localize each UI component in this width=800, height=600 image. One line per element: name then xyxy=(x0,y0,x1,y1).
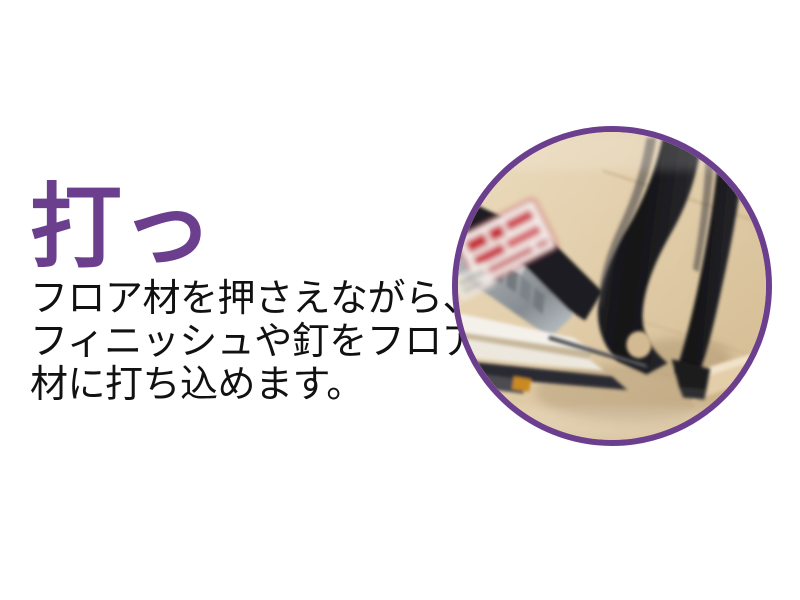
description-text: フロア材を押さえながら、 フィニッシュや釘をフロア 材に打ち込めます。 xyxy=(30,278,460,408)
description-line-2: フィニッシュや釘をフロア xyxy=(30,321,460,364)
instruction-slide: 打っ フロア材を押さえながら、 フィニッシュや釘をフロア 材に打ち込めます。 xyxy=(0,0,800,600)
description-line-3: 材に打ち込めます。 xyxy=(30,364,460,407)
product-photo xyxy=(458,132,766,440)
page-title: 打っ xyxy=(30,182,460,276)
product-photo-circle xyxy=(452,126,772,446)
flooring-nailer-photo-illustration xyxy=(458,132,766,440)
text-block: 打っ フロア材を押さえながら、 フィニッシュや釘をフロア 材に打ち込めます。 xyxy=(30,182,460,408)
description-line-1: フロア材を押さえながら、 xyxy=(30,278,460,321)
